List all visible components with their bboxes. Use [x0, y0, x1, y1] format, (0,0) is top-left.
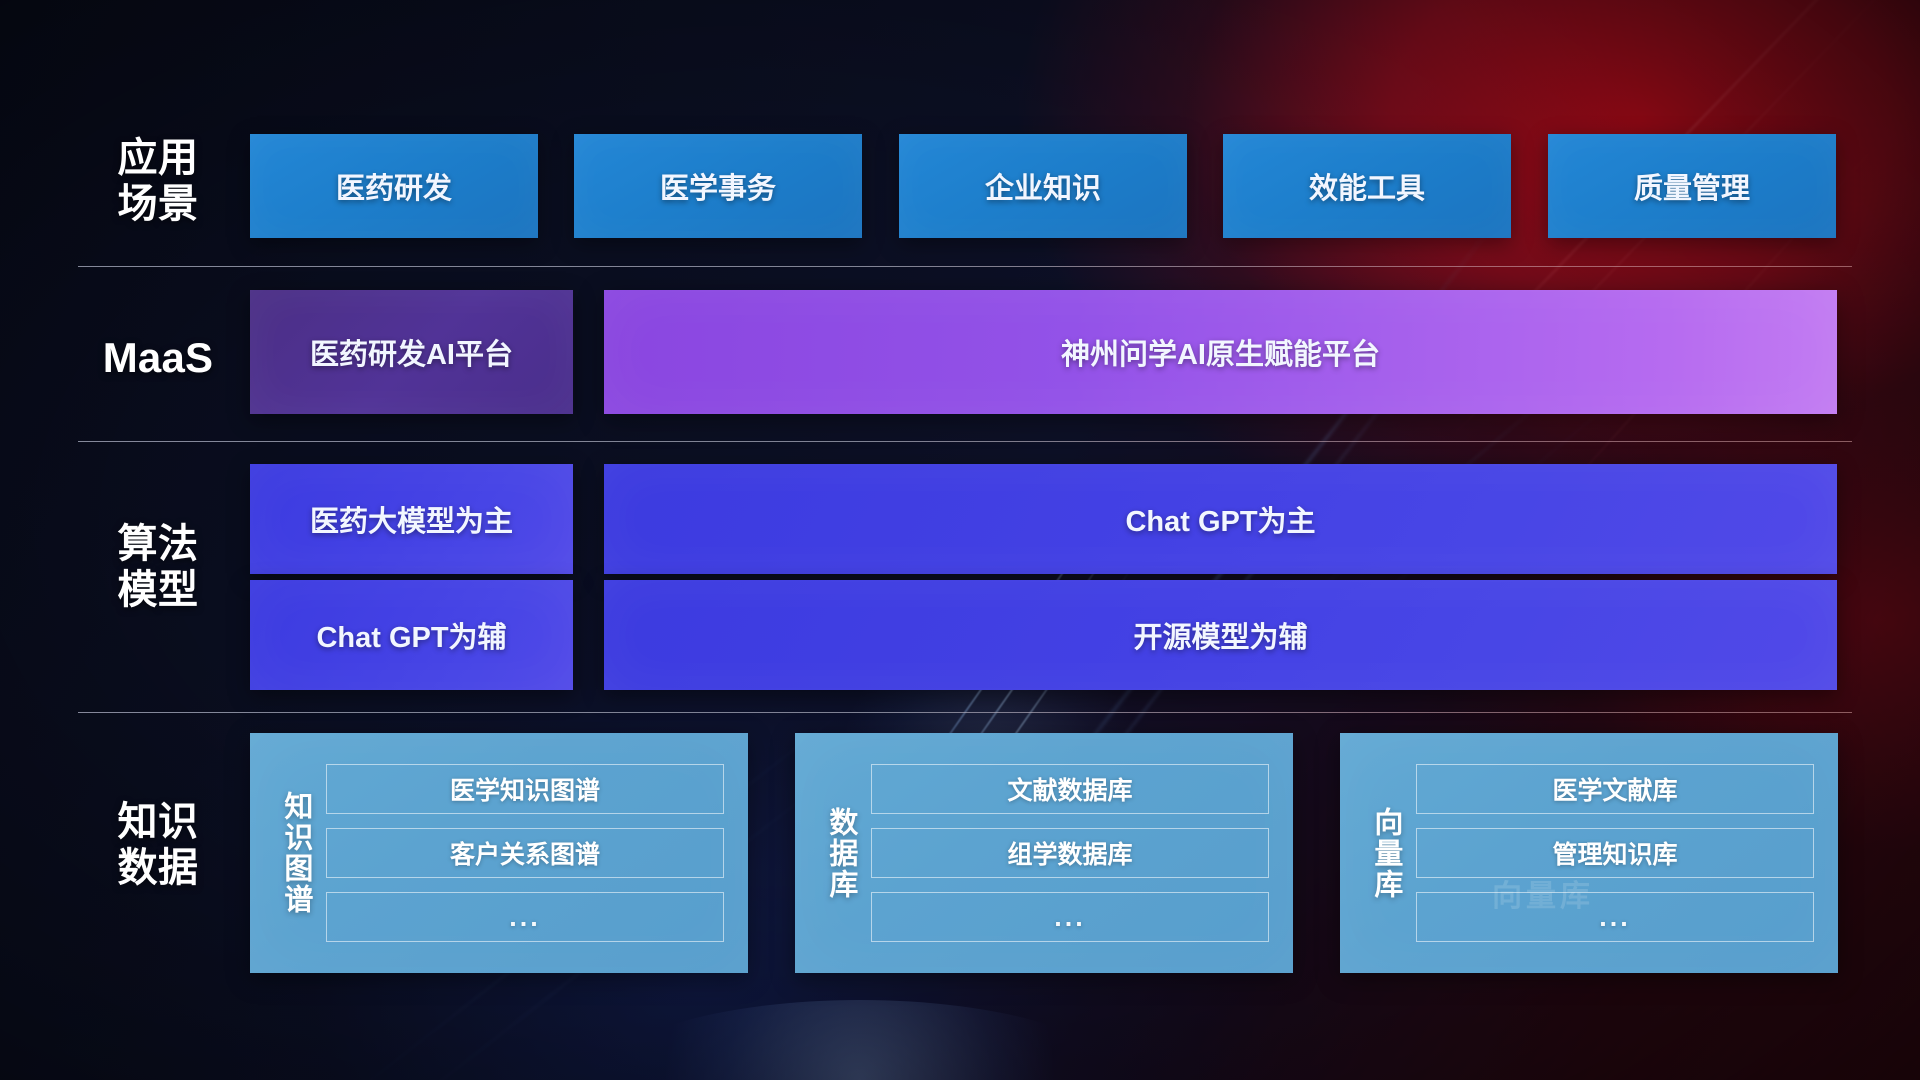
knowledge-panel-title: 知识图谱: [264, 749, 326, 957]
divider-algorithm-knowledge: [78, 712, 1852, 713]
knowledge-item[interactable]: 组学数据库: [871, 828, 1269, 878]
row-label-algorithm-line2: 模型: [78, 568, 238, 614]
app-box-medical-affairs[interactable]: 医学事务: [574, 134, 862, 238]
knowledge-item[interactable]: 医学文献库: [1416, 764, 1814, 814]
knowledge-panel-title: 数据库: [809, 749, 871, 957]
row-label-knowledge-line1: 知识: [78, 800, 238, 846]
row-label-knowledge: 知识 数据: [78, 800, 238, 891]
app-box-enterprise-knowledge[interactable]: 企业知识: [899, 134, 1187, 238]
knowledge-item[interactable]: 文献数据库: [871, 764, 1269, 814]
knowledge-item-label: ...: [1599, 902, 1631, 933]
knowledge-item-more[interactable]: ...: [326, 892, 724, 942]
knowledge-item-label: 管理知识库: [1552, 835, 1677, 871]
divider-application-maas: [78, 266, 1852, 267]
knowledge-item-label: 医学文献库: [1552, 771, 1677, 807]
knowledge-panel-title: 向量库: [1354, 749, 1416, 957]
knowledge-panel-database[interactable]: 数据库 文献数据库 组学数据库 ...: [795, 733, 1293, 973]
knowledge-panel-vector-store[interactable]: 向量库 医学文献库 管理知识库 ... 向量库: [1340, 733, 1838, 973]
row-label-algorithm-line1: 算法: [78, 522, 238, 568]
maas-box-label: 医药研发AI平台: [310, 331, 513, 373]
maas-box-shenzhou-wenxue-platform[interactable]: 神州问学AI原生赋能平台: [604, 290, 1837, 414]
knowledge-item-label: 文献数据库: [1007, 771, 1132, 807]
row-label-maas: MaaS: [78, 334, 238, 382]
algo-box-label: 医药大模型为主: [310, 498, 513, 540]
app-box-label: 效能工具: [1309, 165, 1425, 207]
algo-box-opensource-secondary[interactable]: 开源模型为辅: [604, 580, 1837, 690]
knowledge-item-list: 医学文献库 管理知识库 ...: [1416, 749, 1814, 957]
slide-canvas: 应用 场景 医药研发 医学事务 企业知识 效能工具 质量管理 MaaS 医药研发…: [0, 0, 1920, 1080]
knowledge-item-list: 医学知识图谱 客户关系图谱 ...: [326, 749, 724, 957]
algo-box-label: 开源模型为辅: [1133, 614, 1307, 656]
row-label-application-line2: 场景: [78, 182, 238, 228]
algo-box-label: Chat GPT为主: [1125, 498, 1315, 540]
row-label-application-line1: 应用: [78, 136, 238, 182]
algo-box-chatgpt-primary[interactable]: Chat GPT为主: [604, 464, 1837, 574]
app-box-drug-rd[interactable]: 医药研发: [250, 134, 538, 238]
knowledge-item[interactable]: 管理知识库: [1416, 828, 1814, 878]
algo-box-chatgpt-secondary[interactable]: Chat GPT为辅: [250, 580, 573, 690]
app-box-efficiency-tools[interactable]: 效能工具: [1223, 134, 1511, 238]
knowledge-item-label: ...: [509, 902, 541, 933]
knowledge-panel-knowledge-graph[interactable]: 知识图谱 医学知识图谱 客户关系图谱 ...: [250, 733, 748, 973]
algo-box-label: Chat GPT为辅: [316, 614, 506, 656]
app-box-label: 企业知识: [985, 165, 1101, 207]
knowledge-item-list: 文献数据库 组学数据库 ...: [871, 749, 1269, 957]
maas-box-label: 神州问学AI原生赋能平台: [1061, 331, 1380, 373]
algo-box-pharma-llm-primary[interactable]: 医药大模型为主: [250, 464, 573, 574]
knowledge-item-label: ...: [1054, 902, 1086, 933]
knowledge-item-more[interactable]: ...: [871, 892, 1269, 942]
app-box-label: 医学事务: [660, 165, 776, 207]
knowledge-item-label: 组学数据库: [1007, 835, 1132, 871]
app-box-label: 医药研发: [336, 165, 452, 207]
knowledge-item[interactable]: 医学知识图谱: [326, 764, 724, 814]
knowledge-item-label: 医学知识图谱: [450, 771, 600, 807]
knowledge-item[interactable]: 客户关系图谱: [326, 828, 724, 878]
knowledge-item-more[interactable]: ...: [1416, 892, 1814, 942]
divider-maas-algorithm: [78, 441, 1852, 442]
row-label-algorithm: 算法 模型: [78, 522, 238, 613]
row-label-application: 应用 场景: [78, 136, 238, 227]
row-label-knowledge-line2: 数据: [78, 846, 238, 892]
maas-box-drug-rd-ai-platform[interactable]: 医药研发AI平台: [250, 290, 573, 414]
row-label-maas-text: MaaS: [78, 334, 238, 382]
app-box-label: 质量管理: [1634, 165, 1750, 207]
knowledge-item-label: 客户关系图谱: [450, 835, 600, 871]
app-box-quality-management[interactable]: 质量管理: [1548, 134, 1836, 238]
